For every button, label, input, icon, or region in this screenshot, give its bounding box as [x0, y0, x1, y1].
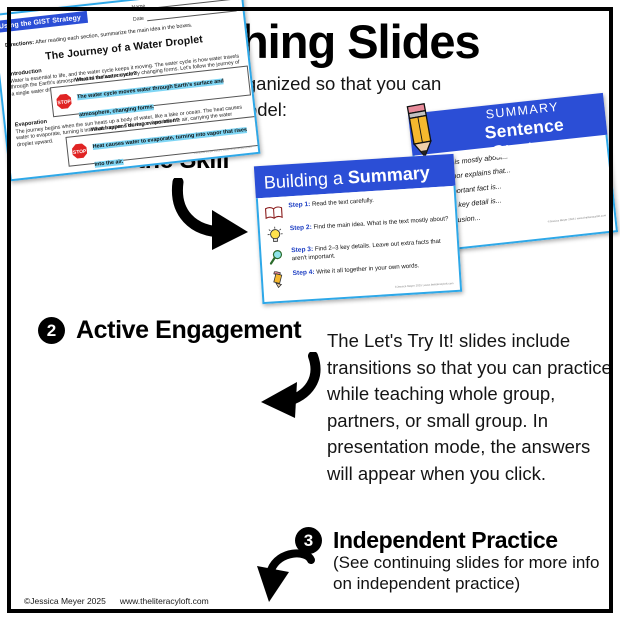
stop-sign-icon: STOP [70, 141, 89, 160]
summary-step-body: Read the text carefully. [312, 197, 374, 208]
name-field-label: Name [131, 3, 145, 10]
summary-step-label: Step 4: [292, 268, 314, 276]
summary-step-label: Step 2: [290, 223, 312, 231]
slide-header-bold-text: Summary [347, 162, 430, 187]
lets-try-it-paragraph: The Let's Try It! slides include transit… [327, 328, 612, 487]
curved-arrow-icon-1 [168, 178, 260, 250]
curved-arrow-icon-2 [255, 352, 325, 420]
slide-header-light-text: Building a [263, 168, 343, 193]
summary-step-body: Find 2–3 key details. Leave out extra fa… [292, 238, 441, 263]
summary-step-text: Step 4: Write it all together in your ow… [292, 262, 419, 278]
step-label-2: Active Engagement [76, 317, 301, 344]
worksheet-directions-label: Directions: [5, 40, 35, 49]
date-field-label: Date [133, 15, 145, 22]
summary-step-body: Write it all together in your own words. [316, 262, 419, 275]
slide-body-building-summary: Step 1: Read the text carefully. [256, 186, 462, 304]
stop-sign-icon: STOP [55, 92, 74, 111]
footer-website: www.theliteracyloft.com [120, 596, 209, 606]
step-number-badge-2: 2 [38, 317, 65, 344]
step-heading-2: 2 Active Engagement [38, 317, 301, 344]
slide-gist-worksheet[interactable]: Using the GIST Strategy Name Date Direct… [0, 0, 260, 181]
summary-step-label: Step 1: [288, 201, 310, 209]
lightbulb-icon [265, 225, 286, 244]
footer: ©Jessica Meyer 2025 www.theliteracyloft.… [24, 596, 209, 606]
step-label-3: Independent Practice [333, 527, 558, 554]
curved-arrow-icon-3 [255, 548, 319, 610]
gist-strategy-tag: Using the GIST Strategy [0, 11, 88, 33]
open-book-icon [263, 203, 284, 222]
magnifying-glass-icon [266, 248, 287, 267]
footer-copyright: ©Jessica Meyer 2025 [24, 596, 106, 606]
summary-step-text: Step 1: Read the text carefully. [288, 197, 374, 211]
pencil-icon [267, 270, 288, 289]
step-heading-3: 3 Independent Practice [295, 527, 558, 554]
step-sublabel-3: (See continuing slides for more info on … [333, 552, 613, 594]
slide-building-a-summary[interactable]: Building a Summary Step 1: Read the text… [254, 154, 462, 304]
summary-step-label: Step 3: [291, 246, 313, 254]
teaching-slides-page: Teaching Slides The teaching slides are … [0, 0, 620, 620]
